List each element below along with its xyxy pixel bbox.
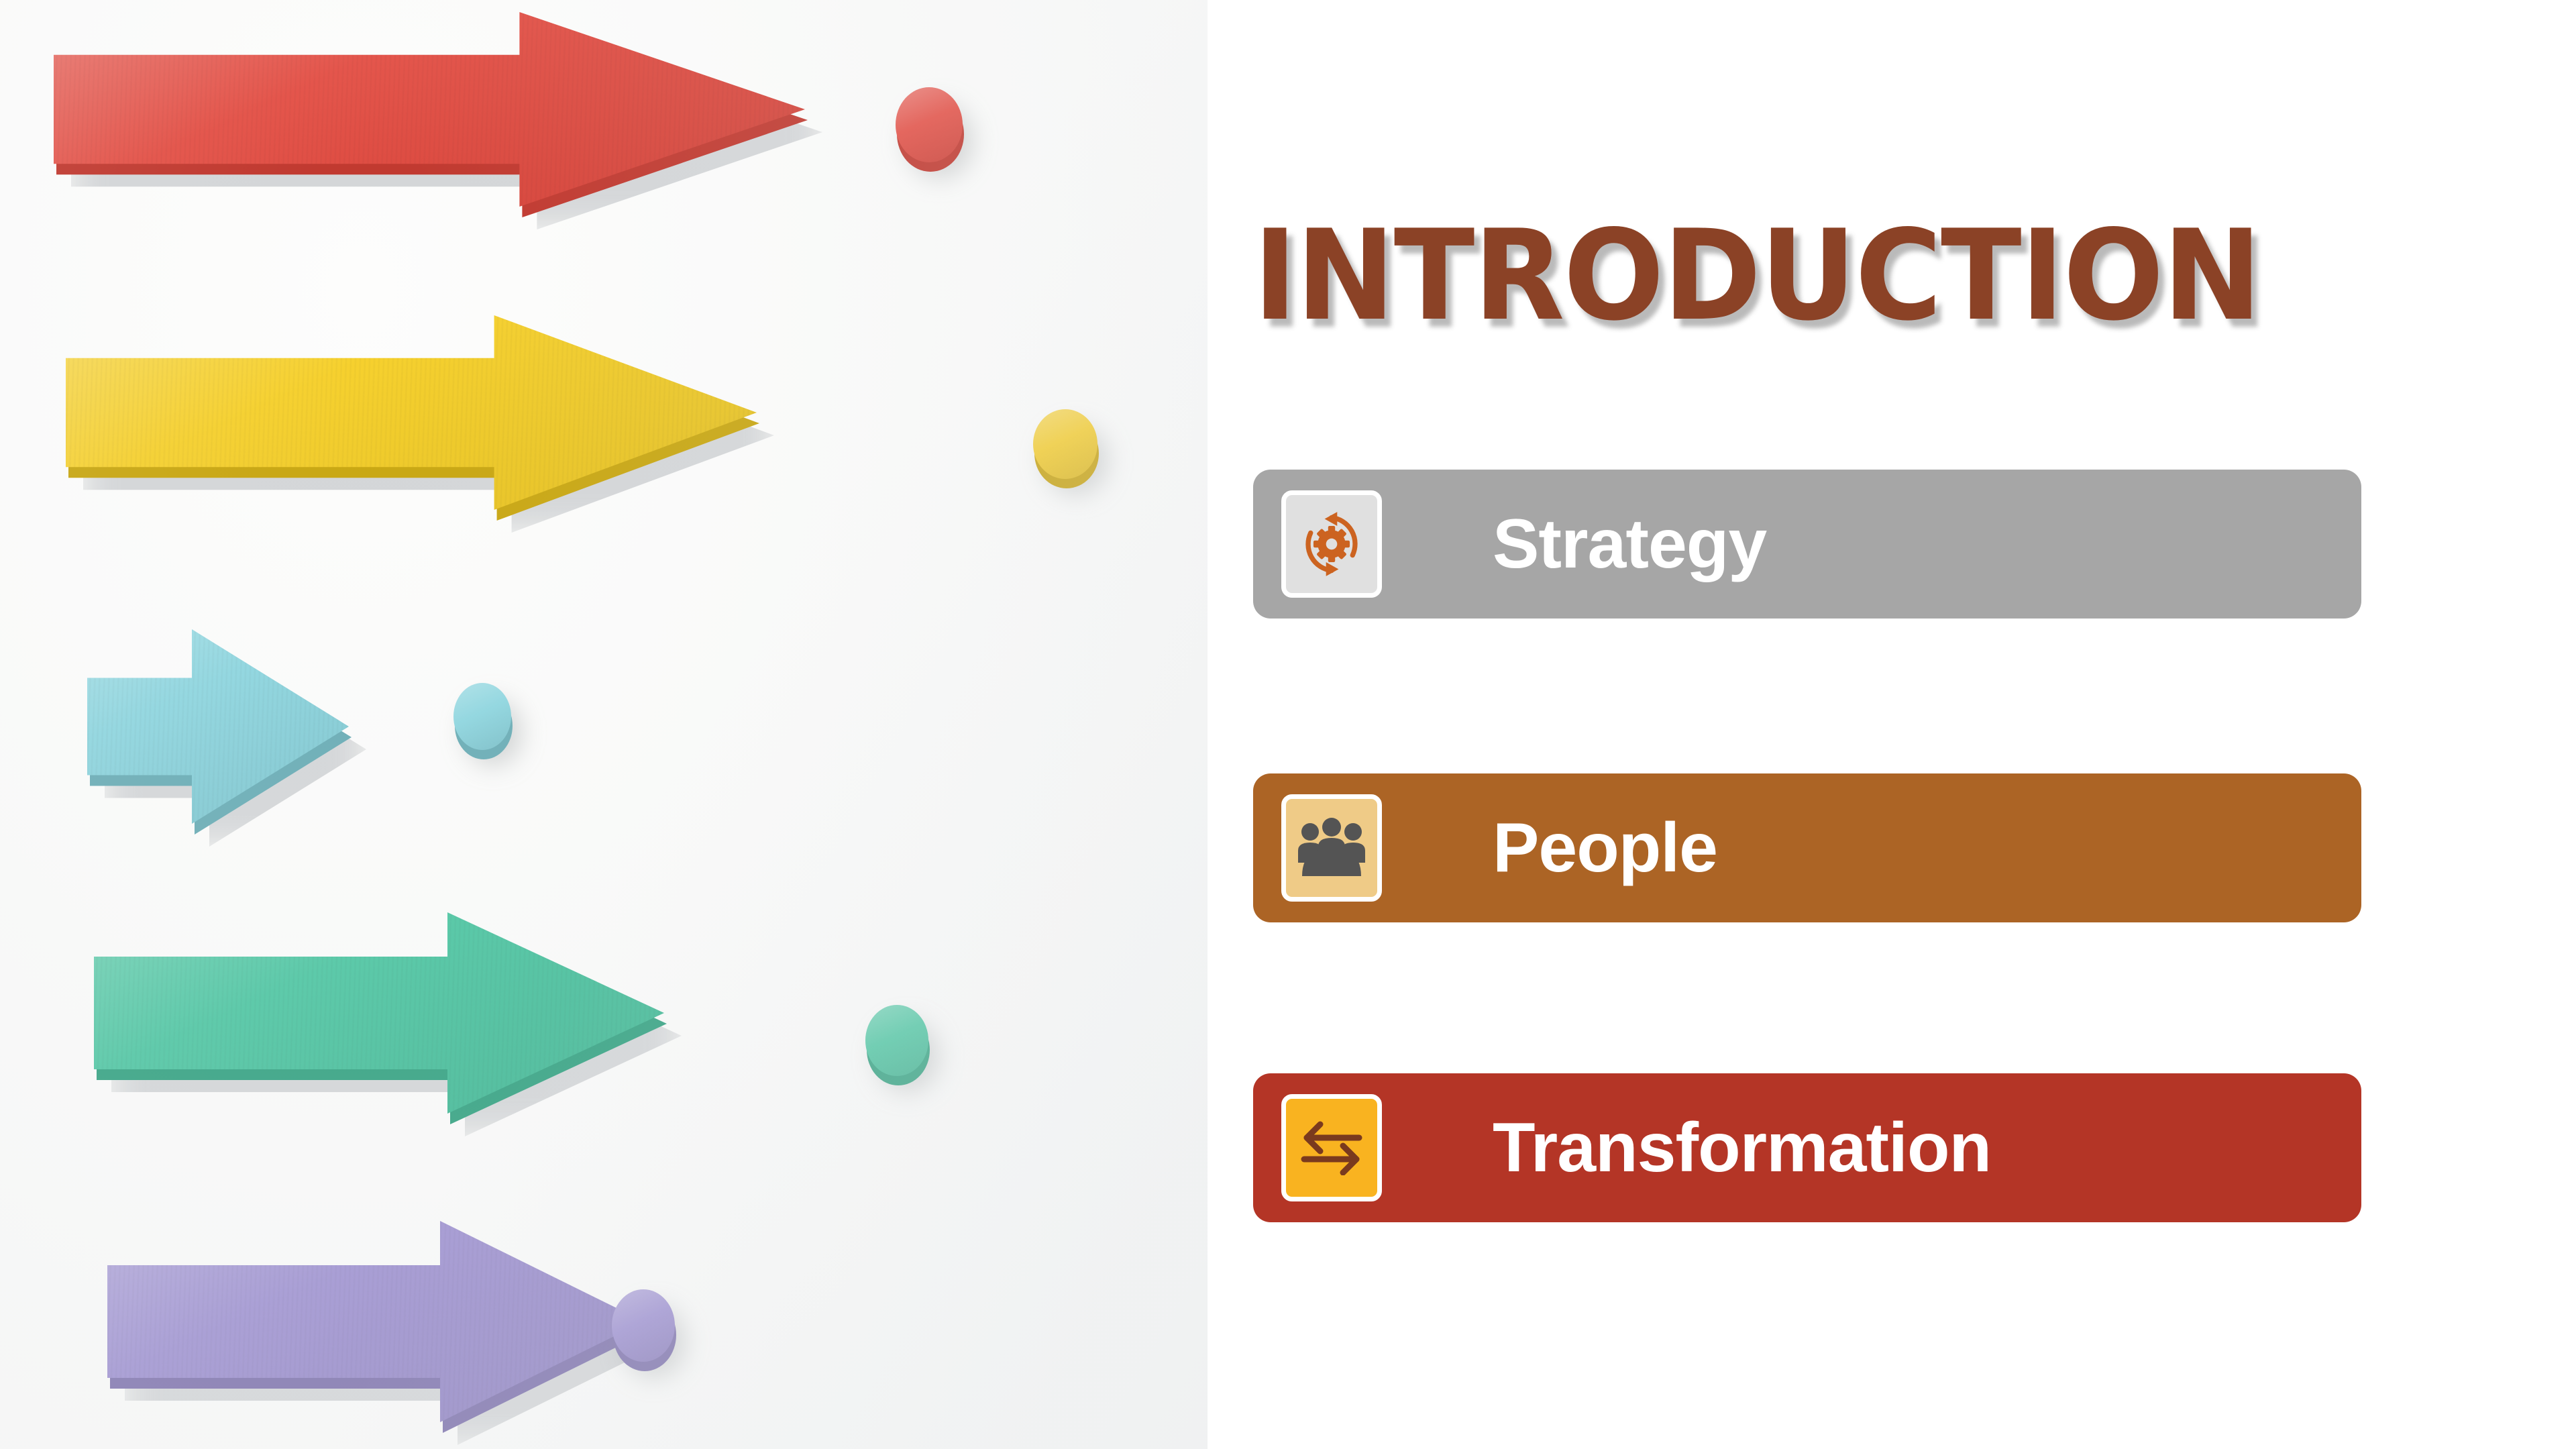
agenda-label-strategy: Strategy (1493, 509, 1766, 579)
red-dot-gloss (896, 87, 963, 162)
cyan-dot (453, 683, 511, 750)
teal-dot (865, 1005, 928, 1076)
cyan-arrow (87, 629, 349, 824)
page-title: INTRODUCTION (1253, 213, 2261, 338)
red-dot (896, 87, 963, 162)
cyan-dot-gloss (453, 683, 511, 750)
agenda-item-transformation[interactable]: Transformation (1253, 1073, 2361, 1222)
yellow-dot (1033, 409, 1097, 479)
yellow-dot-face (1033, 409, 1097, 479)
red-arrow (54, 12, 805, 207)
two-way-arrows-icon (1297, 1120, 1366, 1175)
agenda-item-people[interactable]: People (1253, 773, 2361, 922)
gear-refresh-icon-tile (1281, 490, 1382, 598)
purple-dot-gloss (612, 1289, 675, 1362)
purple-dot (612, 1289, 675, 1362)
red-dot-face (896, 87, 963, 162)
content-panel: INTRODUCTION (1207, 0, 2576, 1449)
cyan-dot-face (453, 683, 511, 750)
agenda-label-people: People (1493, 813, 1717, 883)
people-group-icon (1297, 816, 1366, 880)
yellow-dot-gloss (1033, 409, 1097, 479)
teal-dot-face (865, 1005, 928, 1076)
purple-arrow (107, 1221, 644, 1422)
people-group-icon-tile (1281, 794, 1382, 902)
colored-3d-arrows-photo (0, 0, 1207, 1449)
teal-dot-gloss (865, 1005, 928, 1076)
slide-canvas: INTRODUCTION (0, 0, 2576, 1449)
agenda-label-transformation: Transformation (1493, 1113, 1991, 1183)
gear-refresh-icon (1297, 509, 1366, 579)
purple-dot-face (612, 1289, 675, 1362)
agenda-item-strategy[interactable]: Strategy (1253, 470, 2361, 619)
yellow-arrow (66, 315, 757, 510)
two-way-arrows-icon-tile (1281, 1094, 1382, 1201)
teal-arrow (94, 912, 664, 1114)
